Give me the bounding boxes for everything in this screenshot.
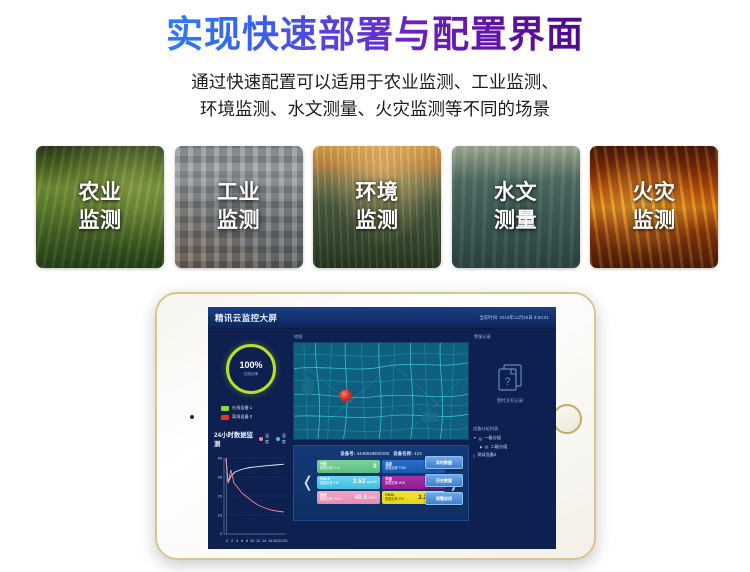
map-caption: 地图 <box>294 334 469 340</box>
tree-node-device[interactable]: ▯ 测试设备2 <box>473 452 547 458</box>
device-group-tree-caption: 设备分组列表 <box>473 426 547 432</box>
svg-text:40: 40 <box>218 456 223 461</box>
tile-value: 3.53 <box>353 479 365 485</box>
chart-legend-label: 温度 <box>265 433 272 445</box>
tile-value-block: 3.53ug/m3 <box>353 479 377 485</box>
tile-unit: ug/m3 <box>366 480 376 484</box>
chart-title: 24小时数据监测 <box>214 430 255 448</box>
legend-label-online: 在线设备 1 <box>232 405 252 411</box>
category-card-list: 农业 监测 工业 监测 环境 监测 水文 测量 火灾 监测 <box>36 146 718 268</box>
tile-name-block: PM2.5 数据名称 PM <box>320 478 338 486</box>
dashboard-left-column: 100% 在线比率 在线设备 1 离线设备 0 24小时数据监测 <box>213 333 289 549</box>
legend-swatch-offline-icon <box>221 415 229 420</box>
online-ratio-widget: 100% 在线比率 <box>213 344 289 394</box>
svg-text:30: 30 <box>218 475 223 480</box>
category-card-industry[interactable]: 工业 监测 <box>175 146 303 268</box>
legend-dot-icon <box>259 437 263 441</box>
svg-text:10: 10 <box>218 513 223 518</box>
tree-node-label: 一级分组 <box>484 435 501 441</box>
dashboard-right-column: 警报记录 ? 暂时没有记录 设备分组列表 ▼ ▤ 一级分组 <box>473 333 547 549</box>
sensor-tile-pm25[interactable]: PM2.5 数据名称 PM 3.53ug/m3 <box>317 476 380 489</box>
dashboard-body: 100% 在线比率 在线设备 1 离线设备 0 24小时数据监测 <box>208 329 556 549</box>
card-label-line-2: 监测 <box>217 208 260 234</box>
chart-legend-humidity: 湿度 <box>276 433 289 445</box>
tree-node-level2[interactable]: ▶ ▤ 二级分组 <box>480 444 547 450</box>
legend-item-offline: 离线设备 0 <box>221 414 289 420</box>
card-label-line-2: 测量 <box>494 208 537 234</box>
history-data-button[interactable]: 历史数据 <box>425 474 463 487</box>
card-label-line-2: 监测 <box>356 208 399 234</box>
folder-icon: ▤ <box>485 444 489 449</box>
svg-text:?: ? <box>504 376 510 388</box>
map-roads-svg <box>294 343 468 440</box>
tree-node-label: 二级分组 <box>491 444 508 450</box>
tile-subtitle: 数据名称 TEM <box>385 466 405 470</box>
tile-unit: %RH <box>368 496 377 500</box>
category-card-label: 农业 监测 <box>36 146 164 268</box>
category-card-label: 环境 监测 <box>313 146 441 268</box>
alarm-records-caption: 警报记录 <box>474 334 547 340</box>
device-location-map[interactable] <box>293 342 469 440</box>
svg-text:20: 20 <box>218 494 223 499</box>
home-button-icon[interactable] <box>552 404 582 434</box>
tile-subtitle: 数据名称 WIN <box>385 481 405 485</box>
card-label-line-1: 农业 <box>79 180 122 206</box>
tree-node-label: 测试设备2 <box>477 452 496 458</box>
category-card-fire[interactable]: 火灾 监测 <box>590 146 718 268</box>
dashboard-title: 精讯云监控大屏 <box>215 312 277 324</box>
subtitle-line-2: 环境监测、水文测量、火灾监测等不同的场景 <box>0 96 750 123</box>
dashboard-header: 精讯云监控大屏 当前时间: 2019年12月20日 9:53:01 <box>208 307 556 329</box>
chevron-right-icon[interactable]: ▶ <box>480 445 483 449</box>
device-group-tree: 设备分组列表 ▼ ▤ 一级分组 ▶ ▤ 二级分组 ▯ 测试设备2 <box>473 426 547 461</box>
category-card-hydrology[interactable]: 水文 测量 <box>452 146 580 268</box>
svg-text:8: 8 <box>246 538 249 543</box>
category-card-environment[interactable]: 环境 监测 <box>313 146 441 268</box>
dashboard-screen: 精讯云监控大屏 当前时间: 2019年12月20日 9:53:01 100% 在… <box>208 307 556 549</box>
page-subtitle: 通过快速配置可以适用于农业监测、工业监测、 环境监测、水文测量、火灾监测等不同的… <box>0 69 750 123</box>
tile-name-block: 湿度 数据名称 HUM <box>320 494 341 502</box>
card-label-line-1: 工业 <box>217 180 260 206</box>
dashboard-center-column: 地图 <box>293 333 469 549</box>
svg-text:4: 4 <box>236 538 239 543</box>
card-label-line-1: 水文 <box>494 180 537 206</box>
svg-text:0: 0 <box>220 531 223 536</box>
line-chart: 40 30 20 10 0 0 2 4 <box>214 450 288 549</box>
tile-value: 0 <box>373 464 377 470</box>
line-chart-svg: 40 30 20 10 0 0 2 4 <box>214 450 288 549</box>
card-label-line-1: 环境 <box>356 180 399 206</box>
tile-name-block: PM10 数据名称 PM <box>385 494 403 502</box>
legend-dot-icon <box>276 437 280 441</box>
tile-subtitle: 数据名称 PM <box>320 481 338 485</box>
document-question-icon: ? <box>495 362 525 392</box>
subtitle-line-1: 通过快速配置可以适用于农业监测、工业监测、 <box>0 69 750 96</box>
device-data-panel: 设备号: 4448029E8CEB 设备名称: 123 ❬ 光照 <box>293 445 469 521</box>
folder-icon: ▤ <box>479 436 483 441</box>
alarm-app-button[interactable]: 报警应用 <box>425 492 463 505</box>
chevron-down-icon[interactable]: ▼ <box>473 436 477 440</box>
tile-name-block: 温度 数据名称 TEM <box>385 463 405 471</box>
legend-label-offline: 离线设备 0 <box>232 414 252 420</box>
legend-swatch-online-icon <box>221 406 229 411</box>
sensor-tile-illuminance[interactable]: 光照 数据名称 LUX 0 <box>317 460 380 473</box>
tile-name-block: 光照 数据名称 LUX <box>320 463 340 471</box>
alarm-empty-state: ? 暂时没有记录 <box>473 362 547 404</box>
chart-legend-temperature: 温度 <box>259 433 272 445</box>
online-ratio-gauge: 100% 在线比率 <box>226 344 276 394</box>
svg-text:12: 12 <box>256 538 261 543</box>
device-name-label: 设备名称: <box>393 451 413 456</box>
svg-text:0: 0 <box>226 538 229 543</box>
tile-value: 40.5 <box>355 495 367 501</box>
device-name-value: 123 <box>414 451 422 456</box>
chart-header: 24小时数据监测 温度 湿度 <box>214 430 289 448</box>
tablet-device-mockup: 精讯云监控大屏 当前时间: 2019年12月20日 9:53:01 100% 在… <box>155 292 596 560</box>
chart-legend-label: 湿度 <box>282 433 289 445</box>
card-label-line-2: 监测 <box>79 208 122 234</box>
gauge-caption: 在线比率 <box>244 372 258 377</box>
device-id-label: 设备号: <box>340 451 355 456</box>
svg-text:6: 6 <box>241 538 244 543</box>
legend-item-online: 在线设备 1 <box>221 405 289 411</box>
realtime-data-button[interactable]: 实时数据 <box>425 456 463 469</box>
category-card-label: 火灾 监测 <box>590 146 718 268</box>
tile-name-block: 风速 数据名称 WIN <box>385 478 405 486</box>
sensor-tile-humidity[interactable]: 湿度 数据名称 HUM 40.5%RH <box>317 491 380 504</box>
card-label-line-2: 监测 <box>633 208 676 234</box>
tile-subtitle: 数据名称 HUM <box>320 497 341 501</box>
device-id-value: 4448029E8CEB <box>357 451 390 456</box>
hero-section: 实现快速部署与配置界面 通过快速配置可以适用于农业监测、工业监测、 环境监测、水… <box>0 0 750 124</box>
tile-subtitle: 数据名称 PM <box>385 497 403 501</box>
dashboard-action-buttons: 实时数据 历史数据 报警应用 <box>425 456 463 505</box>
device-icon: ▯ <box>473 453 475 458</box>
tile-value-block: 40.5%RH <box>355 495 377 501</box>
tile-subtitle: 数据名称 LUX <box>320 466 340 470</box>
category-card-label: 工业 监测 <box>175 146 303 268</box>
card-label-line-1: 火灾 <box>633 180 676 206</box>
alarm-empty-text: 暂时没有记录 <box>497 398 523 404</box>
svg-text:22: 22 <box>283 538 288 543</box>
device-status-legend: 在线设备 1 离线设备 0 <box>221 405 289 423</box>
gauge-value: 100% <box>239 361 262 370</box>
map-location-pin-icon[interactable] <box>340 390 351 401</box>
carousel-prev-button[interactable]: ❬ <box>301 475 314 490</box>
svg-text:14: 14 <box>262 538 267 543</box>
svg-text:2: 2 <box>231 538 234 543</box>
svg-text:10: 10 <box>250 538 255 543</box>
category-card-agriculture[interactable]: 农业 监测 <box>36 146 164 268</box>
tree-node-level1[interactable]: ▼ ▤ 一级分组 <box>473 435 547 441</box>
page-title: 实现快速部署与配置界面 <box>166 12 584 58</box>
dashboard-timestamp: 当前时间: 2019年12月20日 9:53:01 <box>479 315 549 321</box>
category-card-label: 水文 测量 <box>452 146 580 268</box>
